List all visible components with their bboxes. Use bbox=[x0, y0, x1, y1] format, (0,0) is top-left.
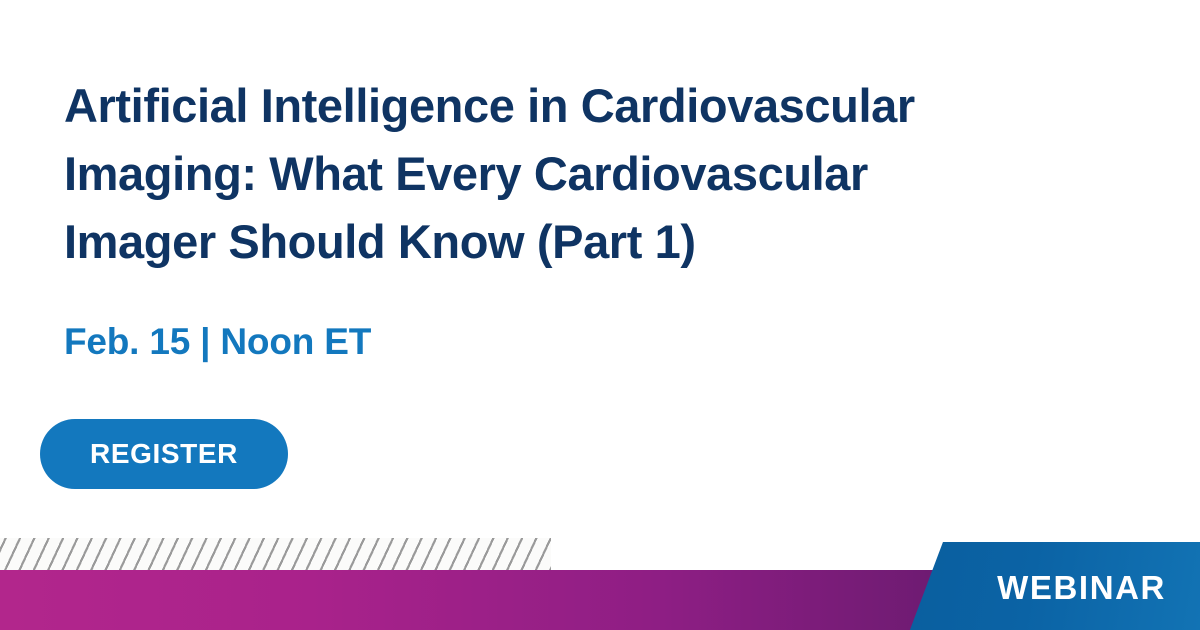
register-button[interactable]: REGISTER bbox=[40, 419, 288, 489]
title-line-1: Artificial Intelligence in Cardiovascula… bbox=[64, 72, 1154, 140]
title-line-2: Imaging: What Every Cardiovascular bbox=[64, 140, 1154, 208]
event-date-time: Feb. 15 | Noon ET bbox=[64, 321, 371, 363]
webinar-badge-label: WEBINAR bbox=[997, 571, 1166, 604]
page-title: Artificial Intelligence in Cardiovascula… bbox=[64, 72, 1154, 276]
title-line-3: Imager Should Know (Part 1) bbox=[64, 208, 1154, 276]
register-button-label: REGISTER bbox=[90, 438, 238, 470]
webinar-promo-card: Artificial Intelligence in Cardiovascula… bbox=[0, 0, 1200, 630]
diagonal-hatch-decoration bbox=[0, 538, 551, 571]
webinar-badge: WEBINAR bbox=[894, 542, 1200, 630]
